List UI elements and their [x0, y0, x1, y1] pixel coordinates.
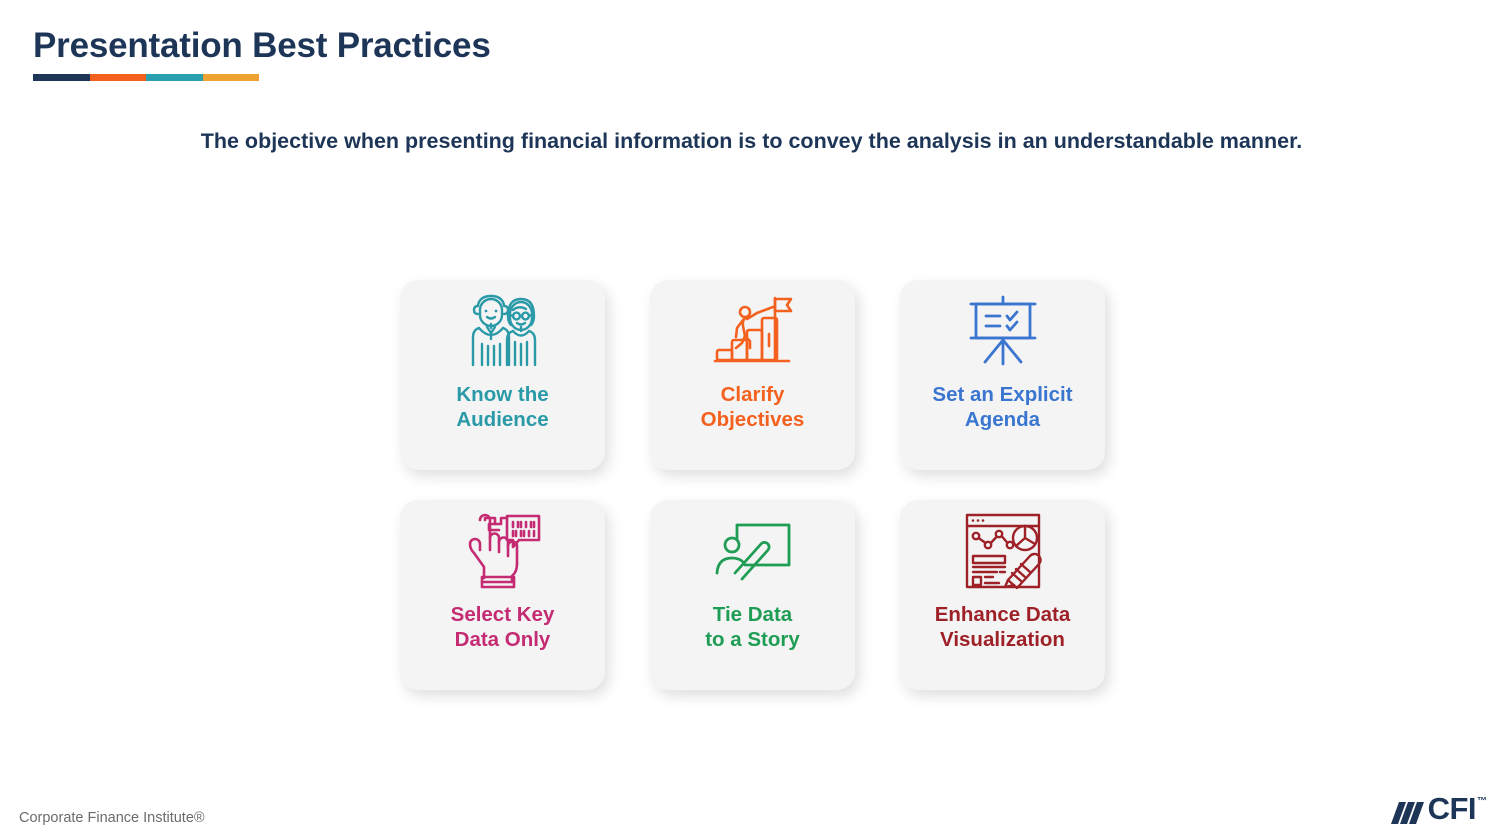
card-set-an-explicit-agenda[interactable]: Set an Explicit Agenda [900, 280, 1105, 470]
cfi-logo-mark-icon [1391, 794, 1425, 829]
presentation-board-checklist-icon [963, 292, 1043, 370]
card-label: Select Key Data Only [451, 602, 555, 652]
slide-subtitle: The objective when presenting financial … [0, 129, 1503, 154]
card-label: Enhance Data Visualization [935, 602, 1071, 652]
cfi-logo: CFI ™ [1391, 794, 1487, 829]
card-know-the-audience[interactable]: Know the Audience [400, 280, 605, 470]
dashboard-chart-pencil-icon [964, 512, 1042, 590]
card-label: Set an Explicit Agenda [932, 382, 1072, 432]
card-label: Know the Audience [456, 382, 548, 432]
cfi-logo-wordmark: CFI [1428, 794, 1476, 823]
best-practices-grid: Know the Audience [400, 280, 1105, 690]
pointing-hand-data-icon [463, 512, 543, 590]
card-select-key-data-only[interactable]: Select Key Data Only [400, 500, 605, 690]
two-people-icon [461, 292, 545, 370]
trademark-symbol: ™ [1477, 796, 1487, 807]
card-label: Tie Data to a Story [705, 602, 800, 652]
page-title: Presentation Best Practices [33, 26, 491, 66]
card-label: Clarify Objectives [701, 382, 805, 432]
climbing-steps-flag-icon [713, 292, 793, 370]
card-enhance-data-visualization[interactable]: Enhance Data Visualization [900, 500, 1105, 690]
accent-bar [33, 74, 259, 81]
footer-attribution: Corporate Finance Institute® [19, 810, 205, 826]
accent-segment-teal [146, 74, 203, 81]
accent-segment-amber [203, 74, 260, 81]
presenter-whiteboard-icon [713, 512, 793, 590]
accent-segment-orange [90, 74, 147, 81]
card-clarify-objectives[interactable]: Clarify Objectives [650, 280, 855, 470]
accent-segment-navy [33, 74, 90, 81]
card-tie-data-to-a-story[interactable]: Tie Data to a Story [650, 500, 855, 690]
